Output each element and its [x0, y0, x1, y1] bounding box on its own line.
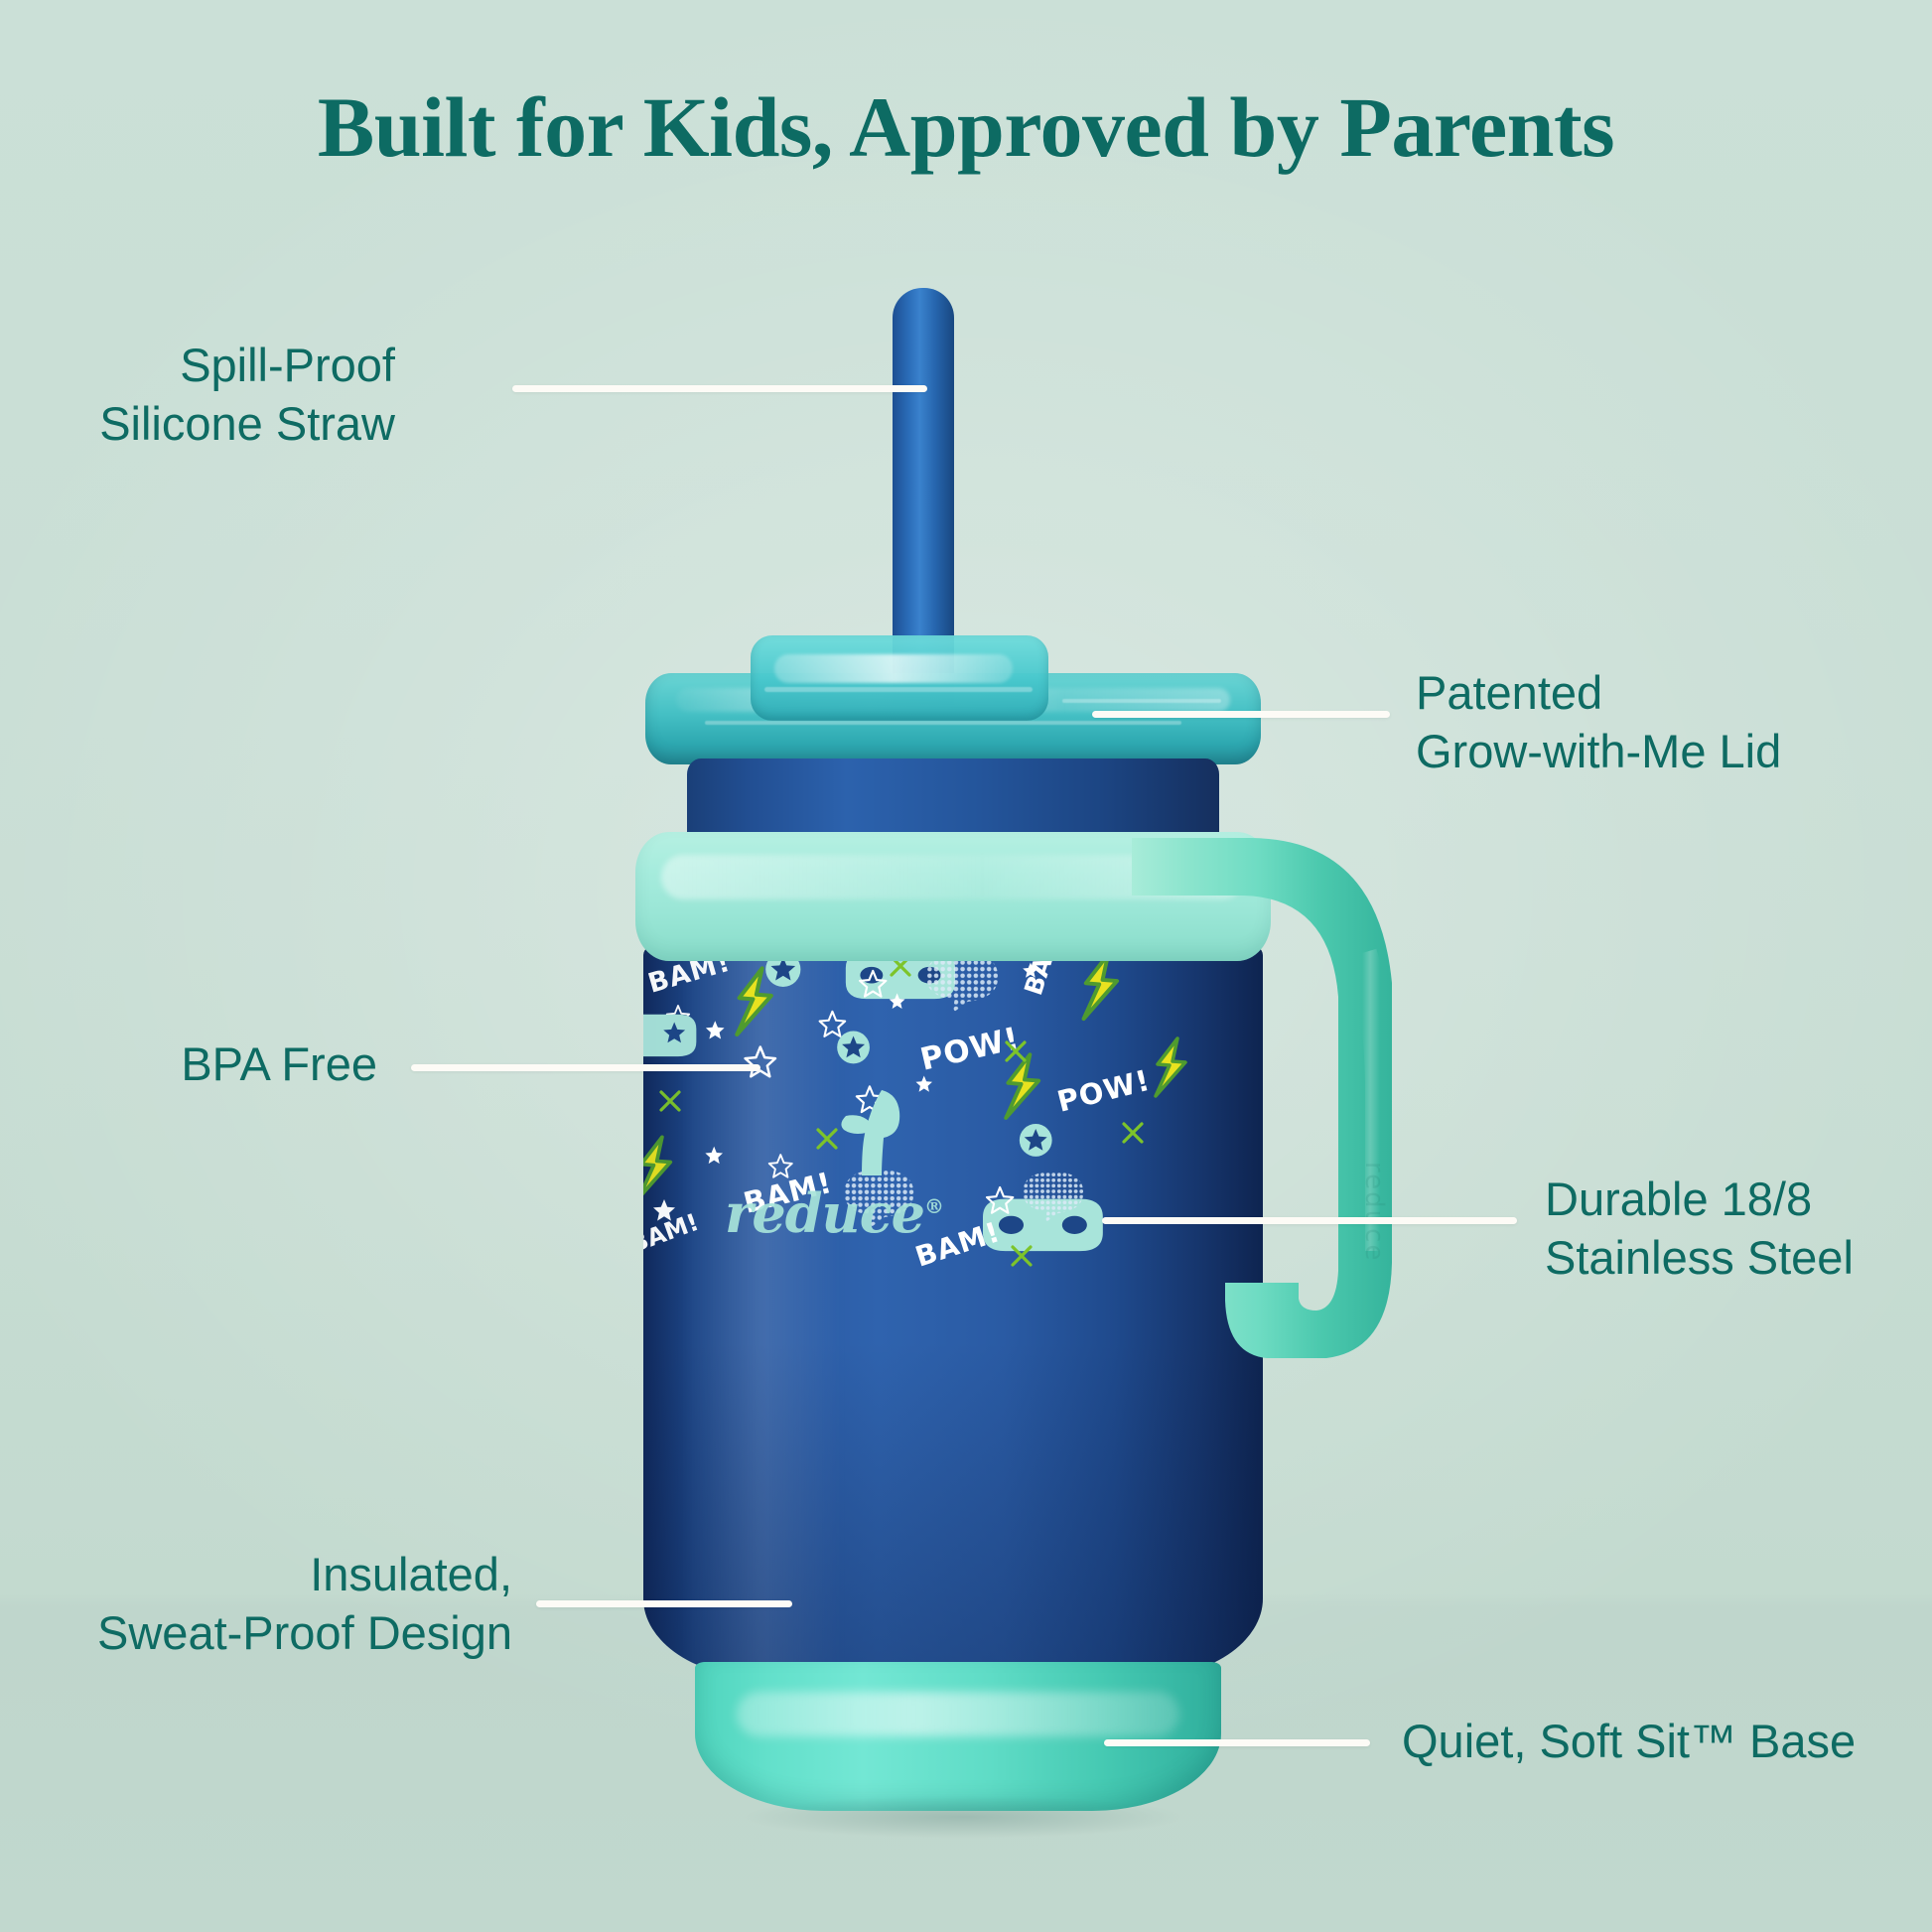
brand-name: reduce — [725, 1181, 924, 1245]
leader-line-bpa-free — [411, 1064, 760, 1071]
callout-label-patented-grow-with-me-lid: Patented Grow-with-Me Lid — [1416, 663, 1781, 780]
lid-seam-3 — [1062, 699, 1221, 703]
callout-label-insulated-sweat-proof-design: Insulated, Sweat-Proof Design — [97, 1545, 512, 1662]
leader-line-quiet-soft-sit-base — [1104, 1739, 1370, 1746]
lid-seam-2 — [705, 721, 1181, 725]
leader-line-durable-stainless-steel — [1102, 1217, 1517, 1224]
svg-text:POW!: POW! — [917, 1021, 1024, 1078]
callout-label-durable-stainless-steel: Durable 18/8 Stainless Steel — [1545, 1170, 1854, 1287]
callout-label-quiet-soft-sit-base: Quiet, Soft Sit™ Base — [1402, 1712, 1856, 1770]
body-lower-shading — [643, 1340, 1263, 1678]
callout-label-bpa-free: BPA Free — [181, 1035, 377, 1093]
leader-line-patented-grow-with-me-lid — [1092, 711, 1390, 718]
brand-wordmark: reduce® — [685, 1181, 983, 1245]
callout-label-spill-proof-silicone-straw: Spill-Proof Silicone Straw — [99, 336, 395, 453]
grow-with-me-lid — [645, 635, 1261, 764]
product-drop-shadow — [655, 1787, 1271, 1847]
lid-flip-top — [751, 635, 1048, 721]
leader-line-spill-proof-silicone-straw — [512, 385, 927, 392]
lid-seam-1 — [764, 687, 1033, 692]
registered-mark: ® — [924, 1194, 943, 1218]
silicone-handle: reduce — [1132, 834, 1459, 1390]
leader-line-insulated-sweat-proof-design — [536, 1600, 792, 1607]
handle-emboss-text: reduce — [1359, 1162, 1389, 1262]
